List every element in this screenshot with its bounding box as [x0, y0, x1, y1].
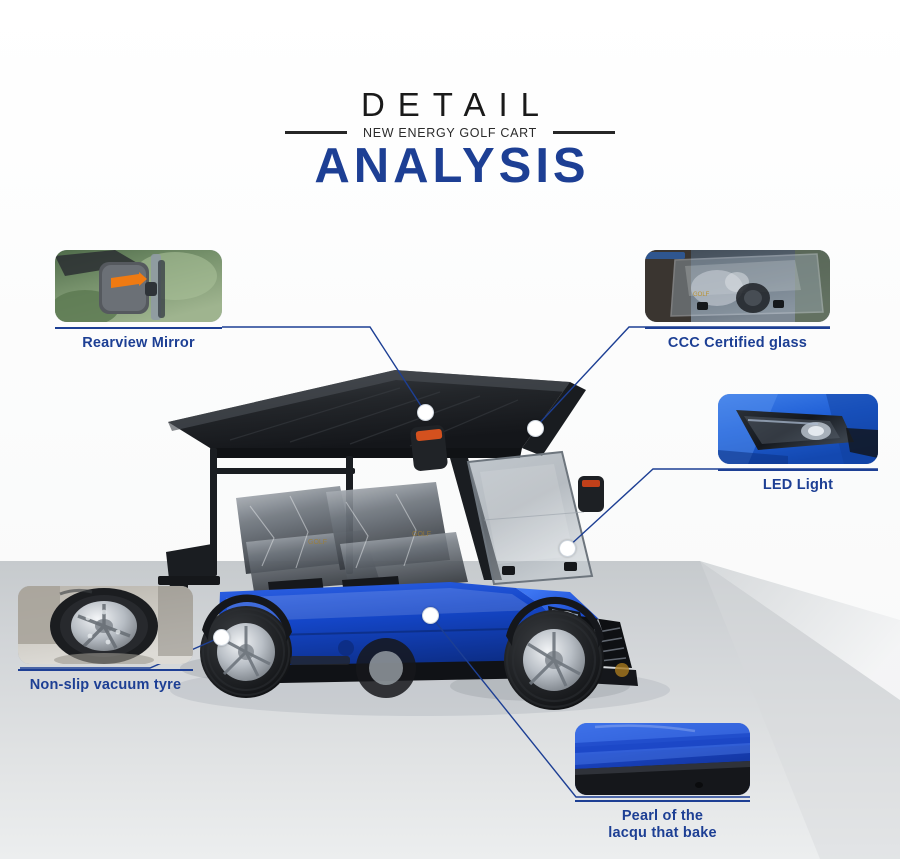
subtitle-row: NEW ENERGY GOLF CART [0, 126, 900, 140]
marker-ccc-glass[interactable] [527, 420, 544, 437]
callout-tyre[interactable]: Non-slip vacuum tyre [18, 586, 193, 694]
marker-rearview-mirror[interactable] [417, 404, 434, 421]
thumb-pearl-lacquer[interactable] [575, 723, 750, 795]
label-pearl-lacquer-line1: Pearl of the [575, 808, 750, 825]
page-title: DETAIL [0, 88, 900, 123]
label-rearview-mirror: Rearview Mirror [55, 335, 222, 352]
label-pearl-lacquer-line2: lacqu that bake [575, 825, 750, 842]
label-pearl-lacquer: Pearl of the lacqu that bake [575, 808, 750, 842]
underline-tyre [18, 669, 193, 671]
blue-paint-panel-photo [575, 723, 750, 795]
label-tyre: Non-slip vacuum tyre [18, 677, 193, 694]
svg-text:GOLF: GOLF [693, 292, 710, 298]
callout-pearl-lacquer[interactable]: Pearl of the lacqu that bake [575, 723, 750, 842]
marker-led-light[interactable] [559, 540, 576, 557]
detail-analysis-page: DETAIL NEW ENERGY GOLF CART ANALYSIS [0, 0, 900, 859]
rule-left [285, 131, 347, 134]
thumb-ccc-glass[interactable]: GOLF [645, 250, 830, 322]
page-headline: ANALYSIS [0, 142, 900, 191]
page-subtitle: NEW ENERGY GOLF CART [363, 126, 537, 140]
underline-pearl-lacquer [575, 800, 750, 802]
mid-wheel [356, 638, 416, 698]
rule-right [553, 131, 615, 134]
callout-ccc-glass[interactable]: GOLF CCC Certified glass [645, 250, 830, 352]
front-wheel [504, 610, 604, 710]
label-ccc-glass: CCC Certified glass [645, 335, 830, 352]
marker-tyre[interactable] [213, 629, 230, 646]
marker-pearl-lacquer[interactable] [422, 607, 439, 624]
underline-rearview-mirror [55, 327, 222, 329]
alloy-wheel-photo [18, 586, 193, 664]
led-headlight-photo [718, 394, 878, 464]
label-led-light: LED Light [718, 477, 878, 494]
svg-text:GOLF: GOLF [308, 539, 327, 546]
thumb-led-light[interactable] [718, 394, 878, 464]
golf-cart-illustration: GOLF GOLF [150, 330, 720, 730]
rearview-mirror-photo [55, 250, 222, 322]
callout-rearview-mirror[interactable]: Rearview Mirror [55, 250, 222, 352]
thumb-rearview-mirror[interactable] [55, 250, 222, 322]
thumb-tyre[interactable] [18, 586, 193, 664]
page-header: DETAIL NEW ENERGY GOLF CART ANALYSIS [0, 88, 900, 191]
underline-led-light [718, 469, 878, 471]
side-mirror-part [578, 476, 604, 512]
underline-ccc-glass [645, 327, 830, 329]
callout-led-light[interactable]: LED Light [718, 394, 878, 494]
product-image: GOLF GOLF [150, 330, 720, 730]
svg-text:GOLF: GOLF [412, 531, 431, 538]
mirror-part [410, 424, 448, 471]
ccc-glass-photo: GOLF [645, 250, 830, 322]
